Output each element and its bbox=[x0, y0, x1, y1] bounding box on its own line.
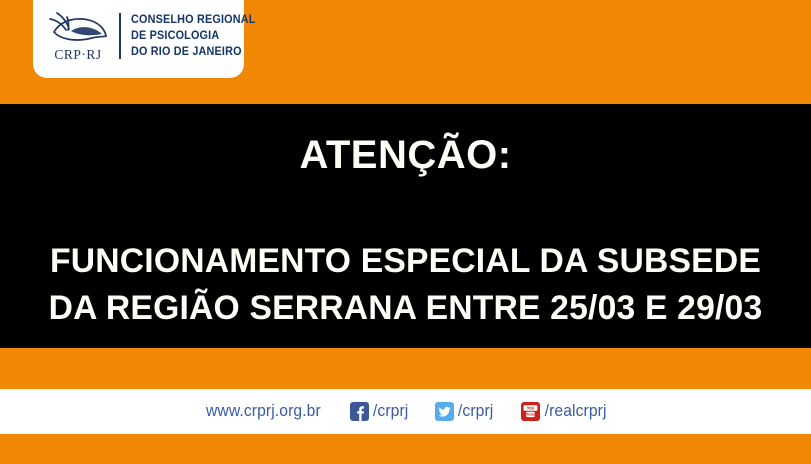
announcement-headline: FUNCIONAMENTO ESPECIAL DA SUBSEDE DA REG… bbox=[4, 238, 807, 332]
organization-name-line-1: CONSELHO REGIONAL bbox=[131, 12, 256, 28]
svg-text:Tube: Tube bbox=[526, 413, 535, 417]
facebook-handle: /crprj bbox=[373, 402, 408, 421]
crprj-announcement-banner: CRP·RJ CONSELHO REGIONAL DE PSICOLOGIA D… bbox=[0, 0, 811, 464]
svg-text:You: You bbox=[526, 406, 534, 411]
top-orange-band: CRP·RJ CONSELHO REGIONAL DE PSICOLOGIA D… bbox=[0, 0, 811, 104]
social-link-twitter[interactable]: /crprj bbox=[435, 402, 494, 421]
headline-line-2: DA REGIÃO SERRANA ENTRE 25/03 E 29/03 bbox=[4, 285, 807, 332]
footer-bar: www.crprj.org.br /crprj /crpr bbox=[0, 389, 811, 434]
twitter-handle: /crprj bbox=[458, 402, 493, 421]
bottom-orange-band bbox=[0, 434, 811, 464]
youtube-icon: You Tube bbox=[521, 402, 540, 421]
organization-name-line-2: DE PSICOLOGIA bbox=[131, 28, 256, 44]
social-link-youtube[interactable]: You Tube /realcrprj bbox=[521, 402, 608, 421]
crp-rj-bird-logo-icon: CRP·RJ bbox=[45, 8, 111, 64]
youtube-handle: /realcrprj bbox=[544, 402, 606, 421]
headline-line-1: FUNCIONAMENTO ESPECIAL DA SUBSEDE bbox=[4, 238, 807, 285]
mid-orange-band bbox=[0, 348, 811, 389]
social-link-facebook[interactable]: /crprj bbox=[350, 402, 409, 421]
logo-card: CRP·RJ CONSELHO REGIONAL DE PSICOLOGIA D… bbox=[33, 0, 244, 78]
attention-heading: ATENÇÃO: bbox=[0, 135, 811, 175]
organization-name-line-3: DO RIO DE JANEIRO bbox=[131, 44, 256, 60]
message-area: ATENÇÃO: FUNCIONAMENTO ESPECIAL DA SUBSE… bbox=[0, 104, 811, 348]
logo-wordmark: CRP·RJ bbox=[54, 48, 101, 62]
facebook-icon bbox=[350, 402, 369, 421]
footer-content: www.crprj.org.br /crprj /crpr bbox=[203, 402, 608, 421]
organization-name: CONSELHO REGIONAL DE PSICOLOGIA DO RIO D… bbox=[131, 12, 256, 61]
logo-divider bbox=[119, 13, 121, 59]
website-link[interactable]: www.crprj.org.br bbox=[206, 402, 321, 421]
twitter-icon bbox=[435, 402, 454, 421]
